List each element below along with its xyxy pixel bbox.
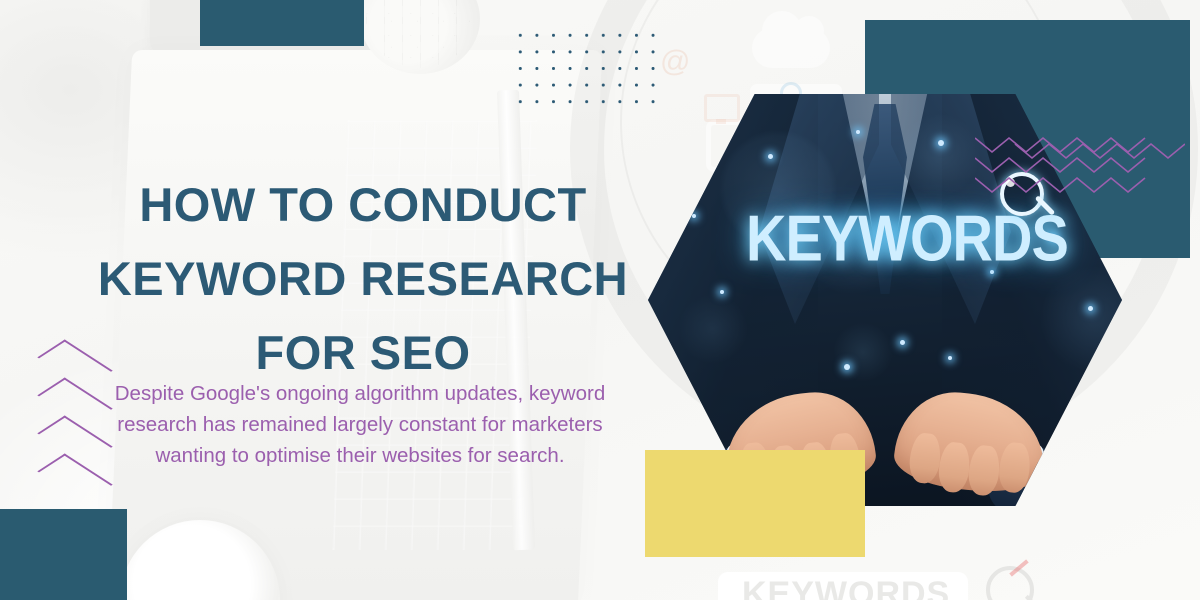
- decor-zigzag-lines: [975, 132, 1185, 194]
- finger: [967, 444, 1002, 497]
- decor-block-yellow: [645, 450, 865, 557]
- light-particle: [720, 290, 724, 294]
- light-particle: [768, 154, 773, 159]
- page-subtitle: Despite Google's ongoing algorithm updat…: [110, 378, 610, 471]
- chevron-up-icon: [37, 454, 112, 503]
- seo-blog-banner: @: [0, 0, 1200, 600]
- finger: [937, 441, 972, 494]
- cloud-icon: [752, 28, 830, 68]
- page-title: HOW TO CONDUCT KEYWORD RESEARCH FOR SEO: [58, 168, 668, 390]
- background-watermark-keywords: KEYWORDS: [742, 575, 950, 600]
- hand-right: [891, 386, 1050, 497]
- decor-block-teal-top-left: [200, 0, 364, 46]
- decor-dot-grid: [512, 27, 660, 113]
- decor-block-teal-bottom-left: [0, 509, 127, 600]
- monitor-icon: [704, 94, 740, 122]
- finger: [908, 432, 943, 485]
- light-particle: [1088, 306, 1093, 311]
- light-particle: [938, 140, 944, 146]
- chevron-up-icon: [37, 416, 112, 465]
- hero-word-keywords: KEYWORDS: [746, 206, 1014, 271]
- light-particle: [692, 214, 696, 218]
- bokeh-circle: [896, 112, 982, 198]
- light-particle: [856, 130, 860, 134]
- at-sign-icon: @: [660, 45, 690, 79]
